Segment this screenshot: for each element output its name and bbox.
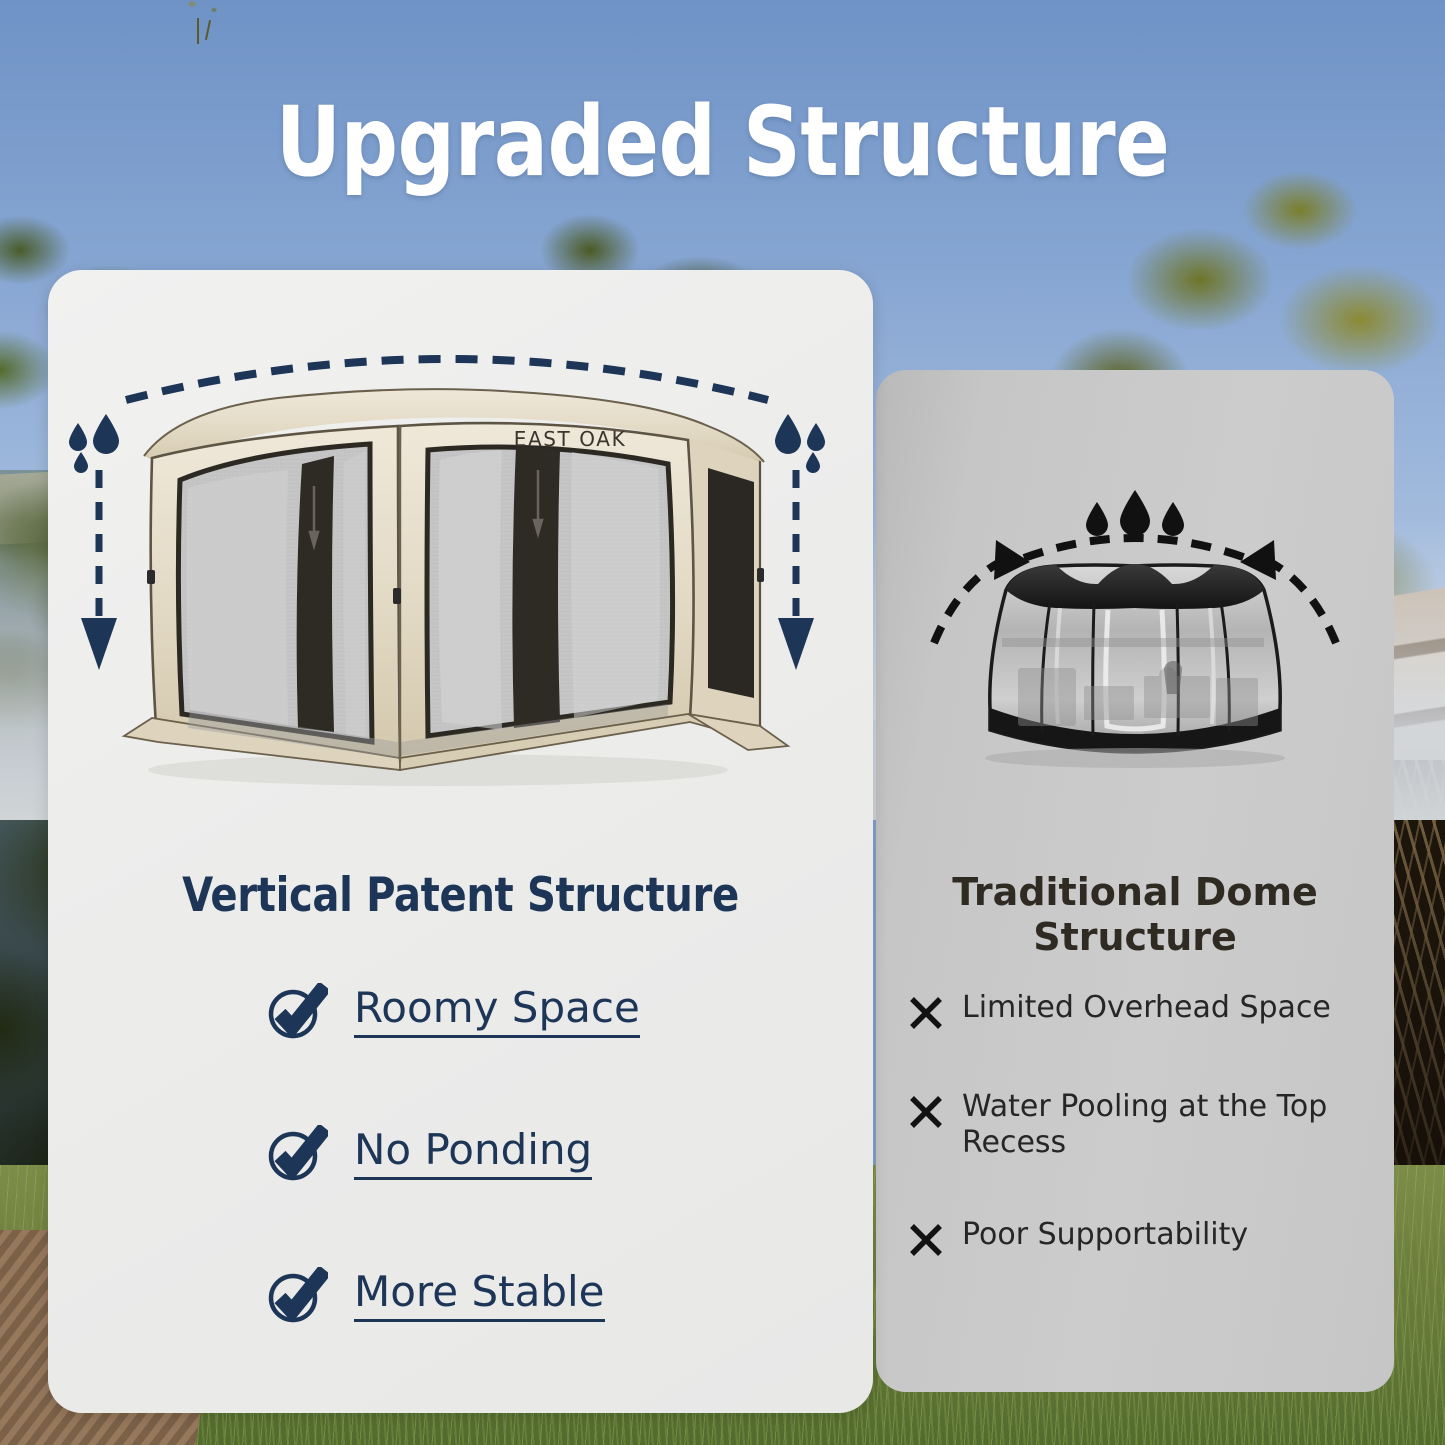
check-circle-icon [266, 1125, 328, 1183]
dashed-arrow-right [1270, 562, 1336, 643]
drawback-label: Water Pooling at the Top Recess [962, 1089, 1362, 1161]
water-droplet-icon [69, 414, 119, 473]
list-item: Water Pooling at the Top Recess [906, 1089, 1376, 1161]
drawback-label: Poor Supportability [962, 1217, 1248, 1253]
arrowhead-down-left [81, 618, 117, 670]
list-item: Limited Overhead Space [906, 990, 1376, 1033]
brand-label: EAST OAK [514, 427, 627, 451]
list-item: More Stable [48, 1266, 873, 1326]
branch-stem [197, 18, 199, 44]
feature-label: More Stable [354, 1270, 605, 1322]
check-circle-icon [266, 1267, 328, 1325]
vertical-patent-heading: Vertical Patent Structure [69, 868, 853, 923]
x-mark-icon [906, 993, 946, 1033]
feature-label: No Ponding [354, 1128, 592, 1180]
dashed-arrow-left [934, 562, 1000, 643]
water-droplet-icon [775, 414, 825, 473]
water-droplet-icon [1086, 490, 1184, 536]
arrowhead-down-right [778, 618, 814, 670]
heading-line-1: Traditional Dome [952, 870, 1318, 914]
page-title: Upgraded Structure [51, 86, 1395, 198]
traditional-dome-heading: Traditional Dome Structure [896, 870, 1374, 960]
branch-leaves-icon [186, 0, 220, 34]
heading-line-2: Structure [1033, 915, 1237, 959]
drawback-label: Limited Overhead Space [962, 990, 1331, 1026]
features-list: Roomy Space No Ponding More Stable [48, 982, 873, 1408]
dome-tent-body [985, 564, 1285, 768]
vertical-patent-card: EAST OAK Vertical Patent Structure [48, 270, 873, 1413]
vertical-patent-tent-illustration: EAST OAK [48, 318, 873, 818]
feature-label: Roomy Space [354, 986, 640, 1038]
list-item: Poor Supportability [906, 1217, 1376, 1260]
traditional-dome-card: Traditional Dome Structure Limited Overh… [876, 370, 1394, 1392]
list-item: No Ponding [48, 1124, 873, 1184]
check-circle-icon [266, 983, 328, 1041]
traditional-dome-tent-illustration [876, 440, 1394, 860]
x-mark-icon [906, 1092, 946, 1132]
dashed-arc-top [1024, 538, 1246, 558]
drawbacks-list: Limited Overhead Space Water Pooling at … [906, 990, 1376, 1316]
x-mark-icon [906, 1220, 946, 1260]
east-oak-tent: EAST OAK [124, 389, 788, 770]
list-item: Roomy Space [48, 982, 873, 1042]
